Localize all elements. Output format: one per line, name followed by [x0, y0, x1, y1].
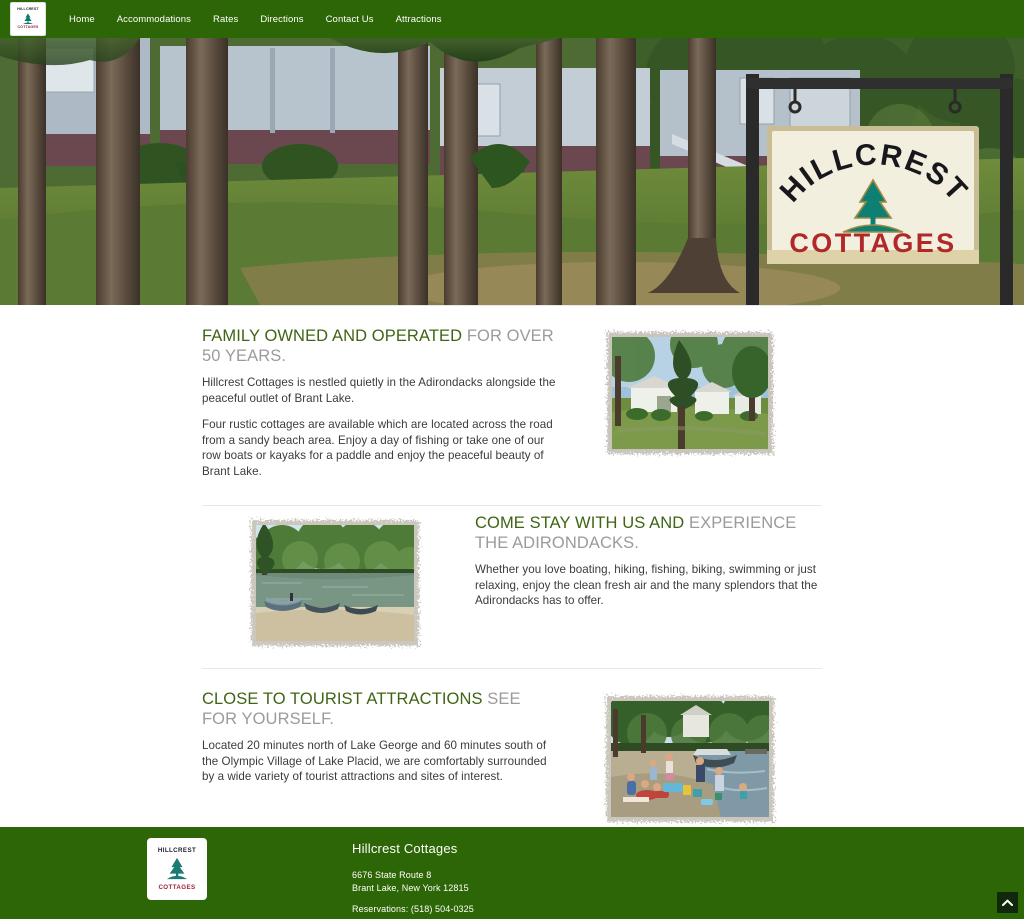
nav-item-directions[interactable]: Directions	[249, 8, 314, 31]
svg-text:COTTAGES: COTTAGES	[789, 228, 956, 258]
pine-tree-icon	[164, 857, 190, 881]
footer-contact-block: Hillcrest Cottages 6676 State Route 8 Br…	[352, 838, 474, 914]
footer-logo-top-text: HILLCREST	[158, 847, 196, 854]
photo-beach-families-illustration	[597, 689, 783, 829]
section-heading-accent: CLOSE TO TOURIST ATTRACTIONS	[202, 690, 483, 708]
section-heading: CLOSE TO TOURIST ATTRACTIONS SEE FOR YOU…	[202, 689, 557, 729]
section-image-column	[557, 689, 822, 829]
nav-item-rates[interactable]: Rates	[202, 8, 249, 31]
section-family-owned: FAMILY OWNED AND OPERATED FOR OVER 50 YE…	[202, 306, 822, 479]
scroll-to-top-button[interactable]	[997, 892, 1018, 913]
top-navigation-bar: HILLCREST COTTAGES Home Accommodations R…	[0, 0, 1024, 38]
chevron-up-icon	[1002, 899, 1013, 907]
site-logo[interactable]: HILLCREST COTTAGES	[10, 2, 46, 36]
footer-site-logo[interactable]: HILLCREST COTTAGES	[147, 838, 207, 900]
footer-address-line-2: Brant Lake, New York 12815	[352, 882, 474, 895]
hero-illustration: HILLCREST COTTAGES	[0, 38, 1024, 305]
photo-beach-families[interactable]	[597, 689, 783, 829]
page-root: HILLCREST COTTAGES Home Accommodations R…	[0, 0, 1024, 919]
photo-lake-boats-illustration	[242, 513, 428, 653]
section-tourist-attractions: CLOSE TO TOURIST ATTRACTIONS SEE FOR YOU…	[202, 669, 822, 829]
site-footer: HILLCREST COTTAGES Hillcrest Cottages 66…	[0, 827, 1024, 919]
photo-lake-boats[interactable]	[242, 513, 428, 653]
footer-address-line-1: 6676 State Route 8	[352, 869, 474, 882]
nav-item-contact-us[interactable]: Contact Us	[315, 8, 385, 31]
nav-item-home[interactable]: Home	[58, 8, 106, 31]
section-heading-accent: COME STAY WITH US AND	[475, 514, 684, 532]
photo-cottages-lawn-illustration	[599, 326, 781, 460]
section-text-column: FAMILY OWNED AND OPERATED FOR OVER 50 YE…	[202, 326, 557, 479]
section-text-column: COME STAY WITH US AND EXPERIENCE THE ADI…	[467, 513, 822, 609]
section-heading: FAMILY OWNED AND OPERATED FOR OVER 50 YE…	[202, 326, 557, 366]
section-paragraph: Whether you love boating, hiking, fishin…	[475, 562, 822, 609]
section-text-column: CLOSE TO TOURIST ATTRACTIONS SEE FOR YOU…	[202, 689, 557, 785]
logo-bottom-text: COTTAGES	[18, 26, 39, 30]
nav-links: Home Accommodations Rates Directions Con…	[58, 8, 453, 31]
section-heading: COME STAY WITH US AND EXPERIENCE THE ADI…	[475, 513, 822, 553]
hero-banner-image: HILLCREST COTTAGES	[0, 38, 1024, 305]
main-content: FAMILY OWNED AND OPERATED FOR OVER 50 YE…	[0, 305, 1024, 829]
footer-reservations-phone: Reservations: (518) 504-0325	[352, 904, 474, 914]
section-come-stay: COME STAY WITH US AND EXPERIENCE THE ADI…	[202, 506, 822, 653]
footer-logo-wrap: HILLCREST COTTAGES	[142, 838, 352, 914]
section-paragraph: Located 20 minutes north of Lake George …	[202, 738, 557, 785]
nav-item-accommodations[interactable]: Accommodations	[106, 8, 202, 31]
section-image-column	[557, 326, 822, 460]
footer-business-name: Hillcrest Cottages	[352, 841, 474, 856]
nav-item-attractions[interactable]: Attractions	[385, 8, 453, 31]
section-paragraph: Four rustic cottages are available which…	[202, 417, 557, 479]
logo-top-text: HILLCREST	[17, 8, 39, 12]
section-heading-accent: FAMILY OWNED AND OPERATED	[202, 327, 462, 345]
section-paragraph: Hillcrest Cottages is nestled quietly in…	[202, 375, 557, 406]
footer-logo-bottom-text: COTTAGES	[158, 884, 195, 891]
pine-tree-icon	[21, 13, 35, 25]
section-image-column	[202, 513, 467, 653]
photo-cottages-lawn[interactable]	[599, 326, 781, 460]
